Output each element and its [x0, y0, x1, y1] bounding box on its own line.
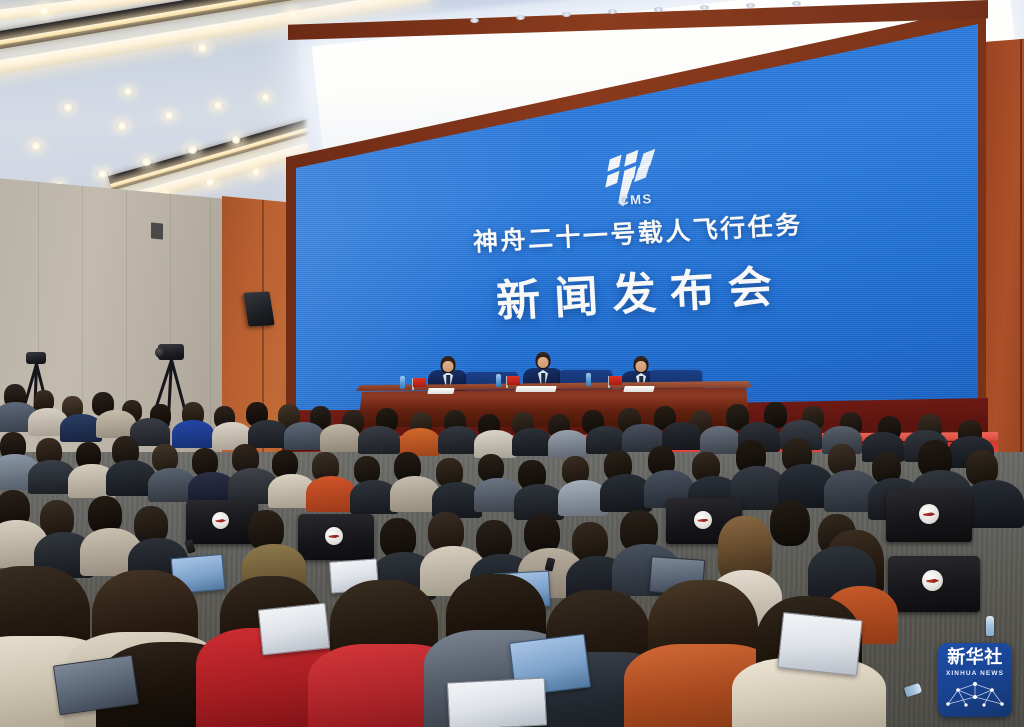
xinhua-news-watermark: 新华社 XINHUA NEWS	[938, 643, 1012, 717]
audience-shoulders	[284, 422, 324, 450]
downlight	[62, 104, 74, 111]
chair-logo-badge	[325, 527, 343, 545]
downlight	[230, 136, 242, 144]
audience-shoulders	[172, 420, 214, 448]
downlight	[286, 10, 300, 18]
wall-speaker-small-icon	[151, 222, 163, 239]
audience-shoulders	[320, 424, 360, 452]
downlight	[260, 94, 271, 101]
downlight	[196, 44, 209, 52]
audience-shoulders	[358, 426, 400, 454]
chair-logo-badge	[919, 504, 939, 524]
downlight	[122, 88, 134, 95]
camera-lens-icon	[155, 347, 166, 358]
chair-logo-badge	[922, 570, 943, 591]
watermark-english-text: XINHUA NEWS	[946, 670, 1004, 677]
downlight	[212, 102, 224, 109]
audience-shoulders	[662, 422, 702, 450]
laptop[interactable]	[258, 603, 330, 656]
downlight	[186, 146, 199, 154]
audience-shoulders	[248, 420, 288, 448]
wall-speaker-icon	[243, 292, 274, 327]
water-bottle	[904, 683, 922, 697]
downlight	[30, 142, 42, 150]
downlight	[250, 168, 262, 176]
laptop[interactable]	[777, 612, 862, 676]
downlight	[116, 122, 128, 130]
press-conference-photo: CMS 神舟二十一号载人飞行任务 新闻发布会	[0, 0, 1024, 727]
chair-logo-badge	[694, 511, 712, 529]
cms-logo-text: CMS	[619, 191, 653, 208]
audience-shoulders	[306, 476, 356, 512]
audience-shoulders	[438, 426, 478, 454]
downlight	[140, 158, 153, 166]
video-camera-icon	[26, 352, 46, 364]
watermark-network-icon	[944, 680, 1006, 710]
downlight	[96, 170, 109, 178]
laptop[interactable]	[447, 677, 547, 727]
screen-headline-line2: 新闻发布会	[494, 250, 787, 330]
audience-area	[0, 380, 1024, 727]
downlight	[163, 112, 175, 119]
downlight	[204, 178, 216, 186]
watermark-chinese-text: 新华社	[947, 649, 1003, 667]
water-bottle	[986, 616, 994, 636]
downlight	[36, 6, 52, 15]
audience-shoulders	[700, 426, 740, 454]
audience-shoulders	[548, 430, 588, 458]
chair-logo-badge	[212, 512, 229, 529]
audience-shoulders	[512, 428, 552, 456]
audience-head	[770, 500, 810, 546]
